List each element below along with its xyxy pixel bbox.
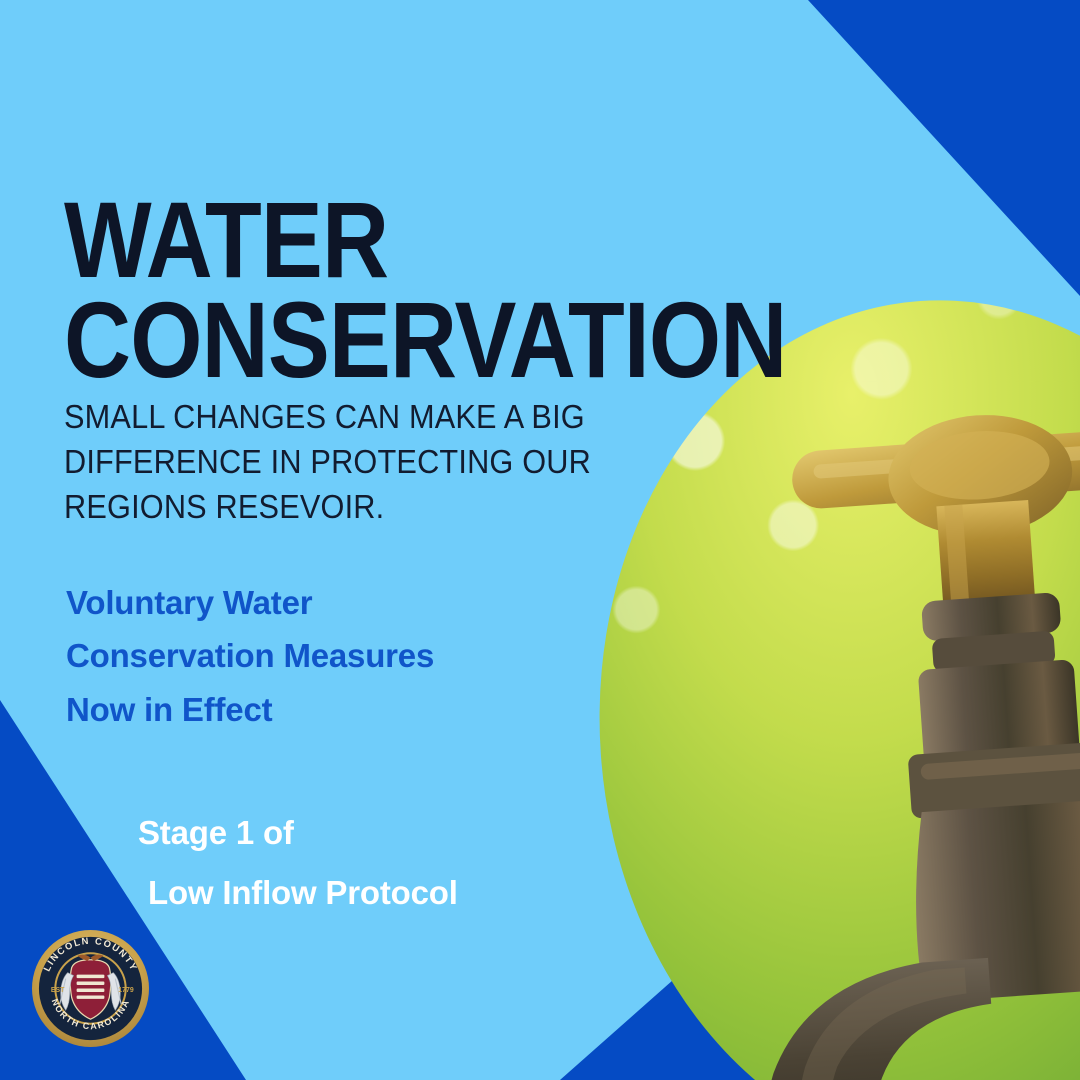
subheading-text: SMALL CHANGES CAN MAKE A BIG DIFFERENCE … xyxy=(64,394,492,530)
headline-line-2: CONSERVATION xyxy=(64,290,666,389)
notice-line-2: Conservation Measures xyxy=(66,629,586,682)
notice-line-3: Now in Effect xyxy=(66,683,586,736)
subheading-line-3: REGIONS RESEVOIR. xyxy=(64,484,492,529)
notice-line-1: Voluntary Water xyxy=(66,576,586,629)
page-title: WATER CONSERVATION xyxy=(64,190,666,389)
seal-year-label: 1779 xyxy=(118,987,134,994)
subheading-line-2: DIFFERENCE IN PROTECTING OUR xyxy=(64,439,492,484)
stage-line-1: Stage 1 of xyxy=(138,803,608,863)
voluntary-measures-notice: Voluntary Water Conservation Measures No… xyxy=(66,576,586,736)
seal-icon: LINCOLN COUNTY NORTH CAROLINA EST 1779 xyxy=(31,929,150,1048)
lincoln-county-seal-logo: LINCOLN COUNTY NORTH CAROLINA EST 1779 xyxy=(31,929,150,1048)
stage-line-2: Low Inflow Protocol xyxy=(138,863,608,923)
seal-est-label: EST xyxy=(51,987,65,994)
poster-canvas: WATER CONSERVATION SMALL CHANGES CAN MAK… xyxy=(0,0,1080,1080)
stage-protocol-text: Stage 1 of Low Inflow Protocol xyxy=(138,803,608,923)
subheading-line-1: SMALL CHANGES CAN MAKE A BIG xyxy=(64,394,492,439)
headline-line-1: WATER xyxy=(64,190,666,289)
